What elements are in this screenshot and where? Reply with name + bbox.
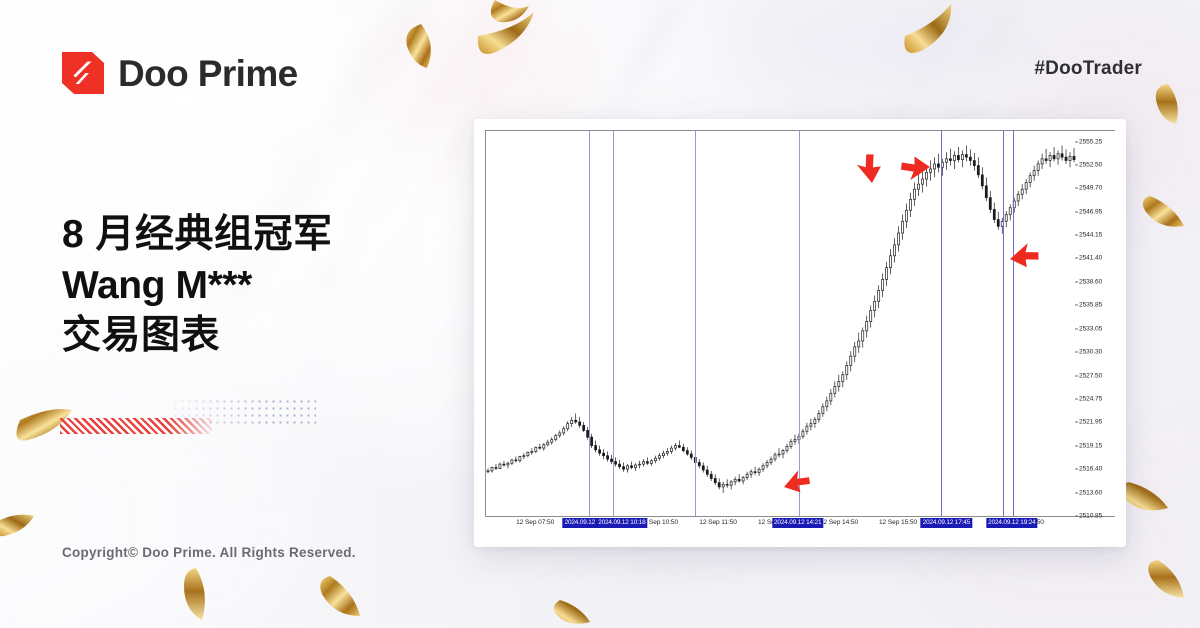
price-tick-mark xyxy=(1075,328,1078,329)
time-tick-label: 12 Sep 11:50 xyxy=(699,519,737,526)
chart-inner: 2555.252552.502549.702546.952544.152541.… xyxy=(485,130,1115,536)
trading-chart-card[interactable]: 2555.252552.502549.702546.952544.152541.… xyxy=(474,119,1126,547)
trade-time-badge[interactable]: 2024.09.12 19:24 xyxy=(986,518,1037,528)
headline-line-3: 交易图表 xyxy=(62,311,492,362)
confetti-ribbon-left-lower xyxy=(0,515,34,537)
price-tick-label: 2535.85 xyxy=(1079,302,1102,309)
chart-plot-area[interactable] xyxy=(485,130,1076,517)
price-tick-label: 2546.95 xyxy=(1079,208,1102,215)
price-tick-label: 2513.60 xyxy=(1079,489,1102,496)
poster-canvas: Doo Prime #DooTrader 8 月经典组冠军 Wang M*** … xyxy=(0,0,1200,628)
price-tick-mark xyxy=(1075,469,1078,470)
price-tick-mark xyxy=(1075,375,1078,376)
confetti-ribbon-right-upper xyxy=(1156,84,1178,124)
price-tick-label: 2549.70 xyxy=(1079,185,1102,192)
confetti-ribbon-bottom-mid xyxy=(320,576,360,616)
price-tick-label: 2533.05 xyxy=(1079,325,1102,332)
confetti-ribbon-top-left xyxy=(406,24,431,68)
confetti-ribbon-top-mid2 xyxy=(491,0,529,22)
price-tick-label: 2538.60 xyxy=(1079,278,1102,285)
price-axis: 2555.252552.502549.702546.952544.152541.… xyxy=(1075,130,1115,517)
trade-time-badge[interactable]: 2024.09.12 10:18 xyxy=(596,518,647,528)
price-tick-label: 2530.30 xyxy=(1079,348,1102,355)
headline-line-2: Wang M*** xyxy=(62,261,492,312)
price-tick-mark xyxy=(1075,422,1078,423)
logo-wordmark: Doo Prime xyxy=(118,55,298,92)
price-tick-mark xyxy=(1075,351,1078,352)
price-tick-label: 2555.25 xyxy=(1079,138,1102,145)
time-axis: 12 Sep 07:5012 Sep 10:5012 Sep 11:5012 S… xyxy=(485,516,1115,534)
confetti-ribbon-top-right xyxy=(904,4,951,53)
confetti-ribbon-bottom-mid2 xyxy=(554,600,590,624)
price-tick-mark xyxy=(1075,211,1078,212)
price-tick-mark xyxy=(1075,164,1078,165)
time-tick-label: 12 Sep 15:50 xyxy=(879,519,917,526)
price-tick-mark xyxy=(1075,446,1078,447)
confetti-ribbon-right-bottom xyxy=(1148,560,1184,598)
price-tick-mark xyxy=(1075,141,1078,142)
price-tick-label: 2521.95 xyxy=(1079,419,1102,426)
price-tick-label: 2541.40 xyxy=(1079,255,1102,262)
trade-time-badge[interactable]: 2024.09.12 17:45 xyxy=(921,518,972,528)
price-tick-mark xyxy=(1075,281,1078,282)
decorative-bars xyxy=(60,398,316,438)
trade-time-badge[interactable]: 2024.09.12 14:21 xyxy=(772,518,823,528)
price-tick-label: 2524.75 xyxy=(1079,395,1102,402)
brand-logo[interactable]: Doo Prime xyxy=(62,52,298,94)
confetti-ribbon-right-lower xyxy=(1121,482,1168,510)
headline-line-1: 8 月经典组冠军 xyxy=(62,210,492,261)
price-tick-mark xyxy=(1075,492,1078,493)
stripe-bar-decoration xyxy=(60,418,212,434)
price-tick-mark xyxy=(1075,235,1078,236)
price-tick-mark xyxy=(1075,258,1078,259)
time-tick-label: 12 Sep 07:50 xyxy=(516,519,554,526)
price-tick-label: 2516.40 xyxy=(1079,466,1102,473)
time-tick-label: 12 Sep 14:50 xyxy=(820,519,858,526)
price-tick-label: 2544.15 xyxy=(1079,232,1102,239)
price-tick-label: 2527.50 xyxy=(1079,372,1102,379)
confetti-ribbon-right-mid xyxy=(1143,196,1184,227)
confetti-ribbon-bottom-left xyxy=(184,568,205,620)
doo-prime-square-icon xyxy=(62,52,104,94)
page-title: 8 月经典组冠军 Wang M*** 交易图表 xyxy=(62,210,492,362)
price-tick-mark xyxy=(1075,188,1078,189)
price-tick-mark xyxy=(1075,305,1078,306)
price-tick-label: 2552.50 xyxy=(1079,161,1102,168)
price-tick-mark xyxy=(1075,398,1078,399)
copyright-text: Copyright© Doo Prime. All Rights Reserve… xyxy=(62,545,356,560)
hashtag-label: #DooTrader xyxy=(1034,58,1142,80)
price-tick-label: 2519.15 xyxy=(1079,443,1102,450)
annotation-arrows xyxy=(486,131,1076,516)
